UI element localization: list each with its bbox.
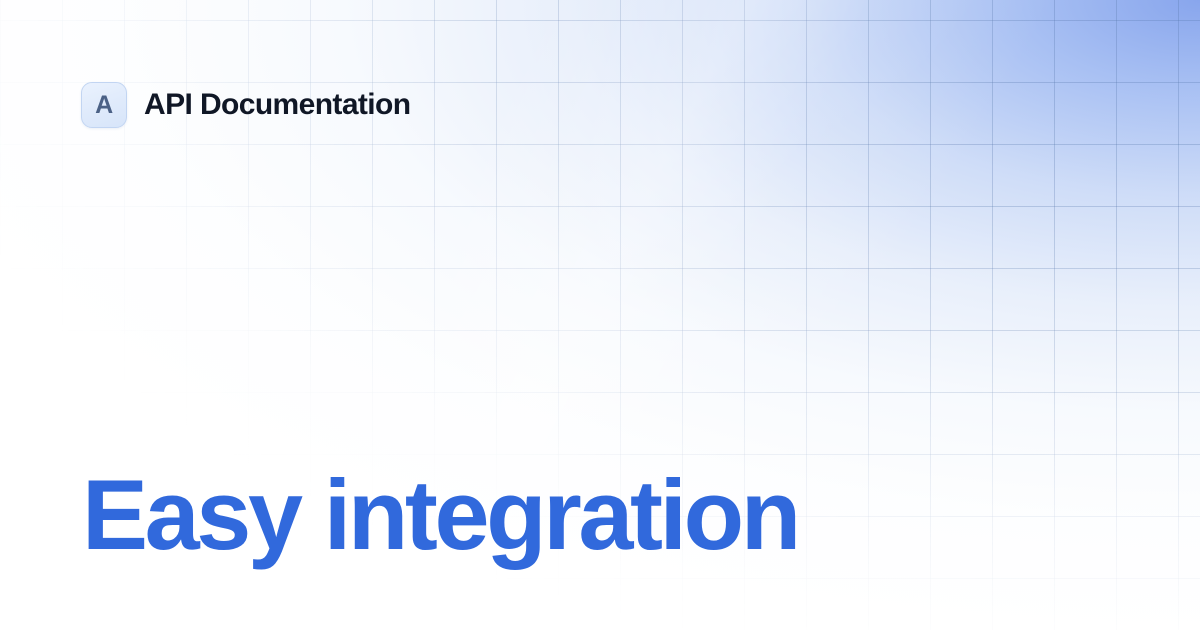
og-card-canvas: A API Documentation Easy integration (0, 0, 1200, 630)
brand-row: A API Documentation (81, 82, 410, 128)
app-letter-badge-label: A (95, 93, 113, 118)
hero-headline: Easy integration (82, 465, 798, 564)
app-letter-badge-icon: A (81, 82, 127, 128)
brand-title: API Documentation (144, 90, 410, 120)
